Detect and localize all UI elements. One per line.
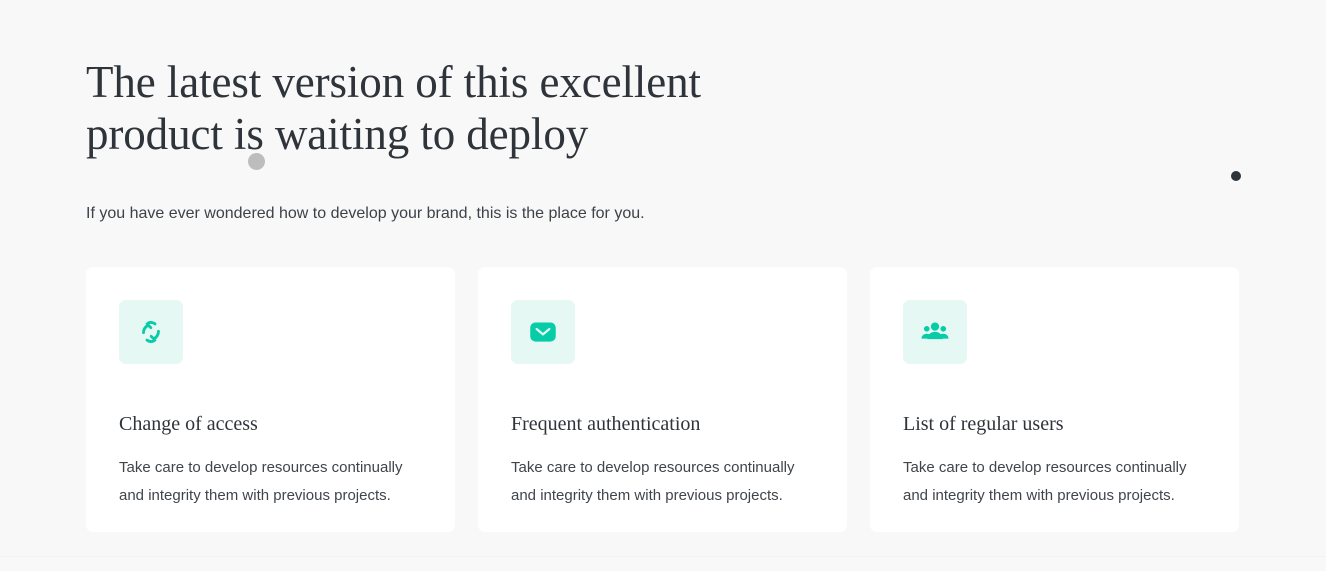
cursor-click-dot — [1231, 171, 1241, 181]
cursor-hover-blob — [248, 153, 265, 170]
feature-card[interactable]: Frequent authentication Take care to dev… — [478, 267, 847, 532]
card-description: Take care to develop resources continual… — [511, 437, 811, 510]
card-description: Take care to develop resources continual… — [903, 437, 1203, 510]
page-title: The latest version of this excellent pro… — [86, 56, 746, 160]
people-group-icon — [903, 300, 967, 364]
sync-arrows-icon — [119, 300, 183, 364]
card-title: Frequent authentication — [511, 364, 815, 437]
card-title: List of regular users — [903, 364, 1207, 437]
section-divider — [0, 556, 1326, 557]
card-description: Take care to develop resources continual… — [119, 437, 419, 510]
hero-section: The latest version of this excellent pro… — [86, 56, 1239, 226]
hero-subtitle: If you have ever wondered how to develop… — [86, 160, 1239, 226]
card-title: Change of access — [119, 364, 423, 437]
feature-card[interactable]: List of regular users Take care to devel… — [870, 267, 1239, 532]
envelope-icon — [511, 300, 575, 364]
feature-card-list: Change of access Take care to develop re… — [86, 267, 1239, 532]
landing-page: The latest version of this excellent pro… — [0, 0, 1326, 571]
feature-card[interactable]: Change of access Take care to develop re… — [86, 267, 455, 532]
